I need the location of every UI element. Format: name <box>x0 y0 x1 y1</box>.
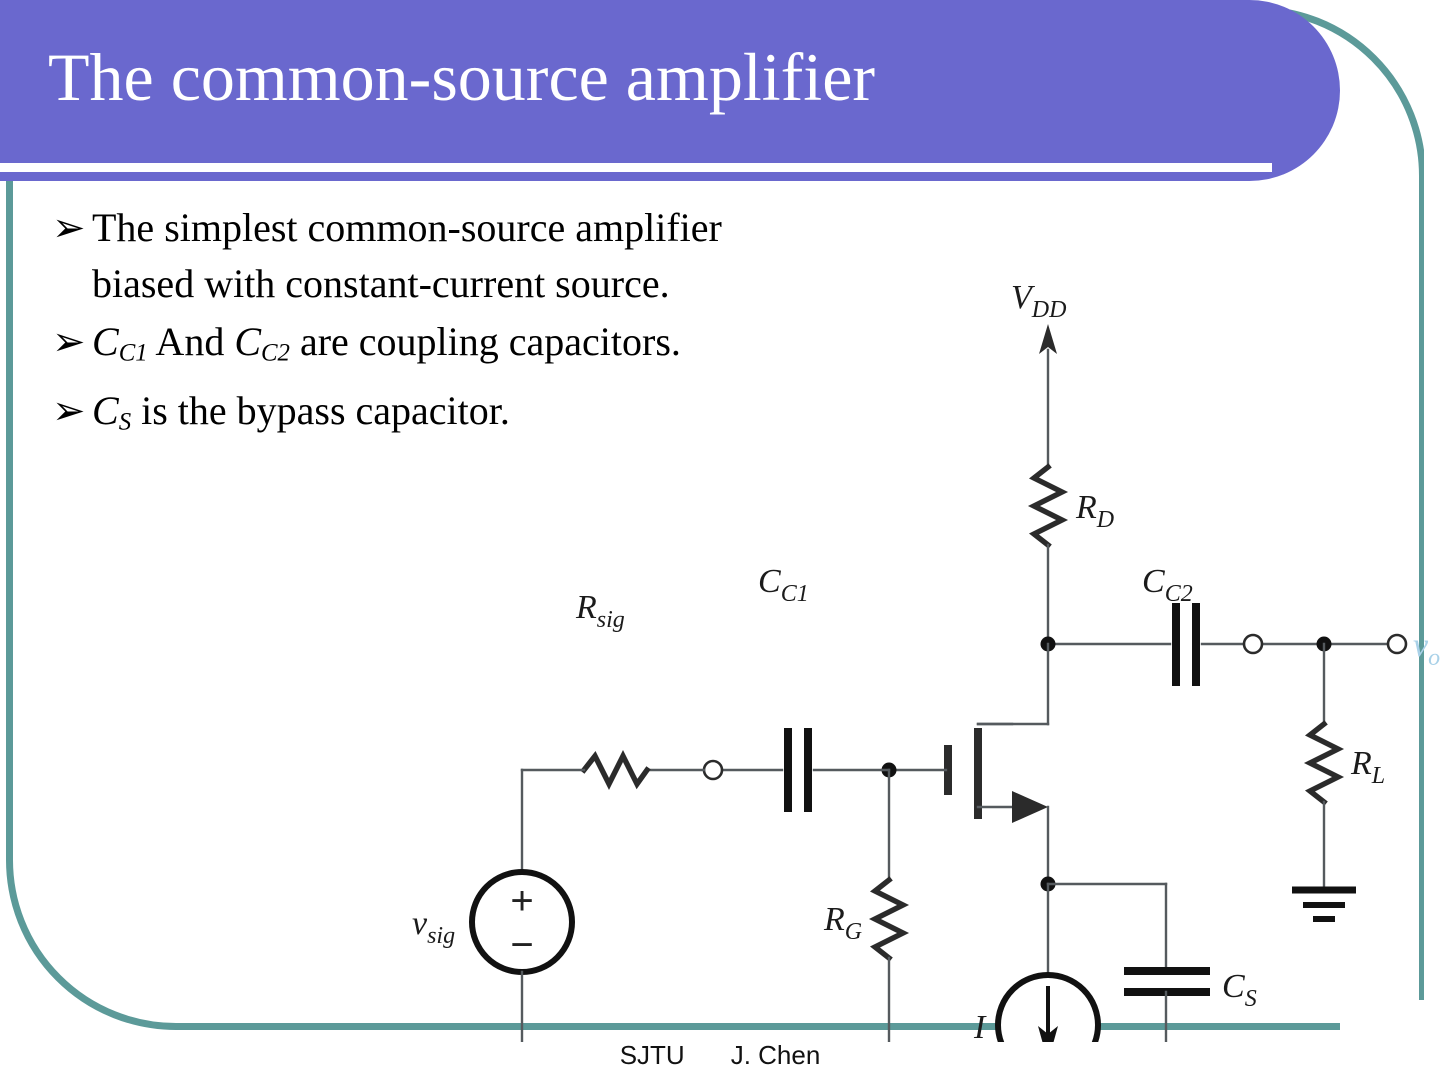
label-rl: RL <box>1350 745 1385 789</box>
bullet-text: CC1 And CC2 are coupling capacitors. <box>92 314 732 381</box>
variable-base: C <box>92 388 119 433</box>
variable-subscript: S <box>119 409 131 436</box>
bullet-text-run: is the bypass capacitor. <box>131 388 510 433</box>
footer-author: J. Chen <box>731 1040 821 1071</box>
resistor-rg <box>875 880 903 958</box>
variable-base: C <box>234 319 261 364</box>
label-rsig: Rsig <box>575 589 625 633</box>
bullet-text-run: And <box>148 319 235 364</box>
variable-subscript: C1 <box>119 339 148 366</box>
bullet-item: ➢CS is the bypass capacitor. <box>52 383 732 450</box>
label-current-source: I <box>973 1009 987 1042</box>
label-vo: vo <box>1413 627 1440 671</box>
bullet-text-run: are coupling capacitors. <box>290 319 681 364</box>
bullet-text: The simplest common-source amplifier bia… <box>92 200 732 312</box>
terminal-open-before-cc1 <box>704 761 722 779</box>
footer-school: SJTU <box>620 1040 685 1071</box>
terminal-open-after-cc2 <box>1244 635 1262 653</box>
slide-footer: SJTUJ. Chen <box>0 1040 1440 1071</box>
bullet-arrow-icon: ➢ <box>52 200 92 256</box>
label-vdd: VDD <box>1011 279 1066 323</box>
vsig-plus-sign: + <box>510 879 533 923</box>
bullet-list: ➢The simplest common-source amplifier bi… <box>52 200 732 453</box>
bullet-item: ➢The simplest common-source amplifier bi… <box>52 200 732 312</box>
label-cs: CS <box>1222 968 1257 1012</box>
mosfet-source-arrow <box>1012 791 1048 823</box>
vsig-minus-sign: − <box>510 923 533 967</box>
variable-base: C <box>92 319 119 364</box>
title-underline-stripe <box>0 163 1272 172</box>
label-cc2: CC2 <box>1142 563 1193 607</box>
label-vsig: vsig <box>412 905 455 949</box>
resistor-rsig <box>584 756 647 784</box>
bullet-item: ➢CC1 And CC2 are coupling capacitors. <box>52 314 732 381</box>
bullet-arrow-icon: ➢ <box>52 314 92 370</box>
label-rd: RD <box>1075 489 1114 533</box>
bullet-math-variable: CC1 <box>92 319 148 364</box>
bullet-text-run: The simplest common-source amplifier bia… <box>92 205 722 306</box>
ground-symbol-rl <box>1292 890 1356 919</box>
bullet-arrow-icon: ➢ <box>52 383 92 439</box>
variable-subscript: C2 <box>261 339 290 366</box>
terminal-open-vo <box>1388 635 1406 653</box>
bullet-math-variable: CC2 <box>234 319 290 364</box>
label-cc1: CC1 <box>758 563 809 607</box>
bullet-text: CS is the bypass capacitor. <box>92 383 732 450</box>
label-rg: RG <box>823 901 862 945</box>
resistor-rd <box>1034 467 1062 545</box>
resistor-rl <box>1310 724 1338 802</box>
page-title: The common-source amplifier <box>48 36 1148 118</box>
bullet-math-variable: CS <box>92 388 131 433</box>
